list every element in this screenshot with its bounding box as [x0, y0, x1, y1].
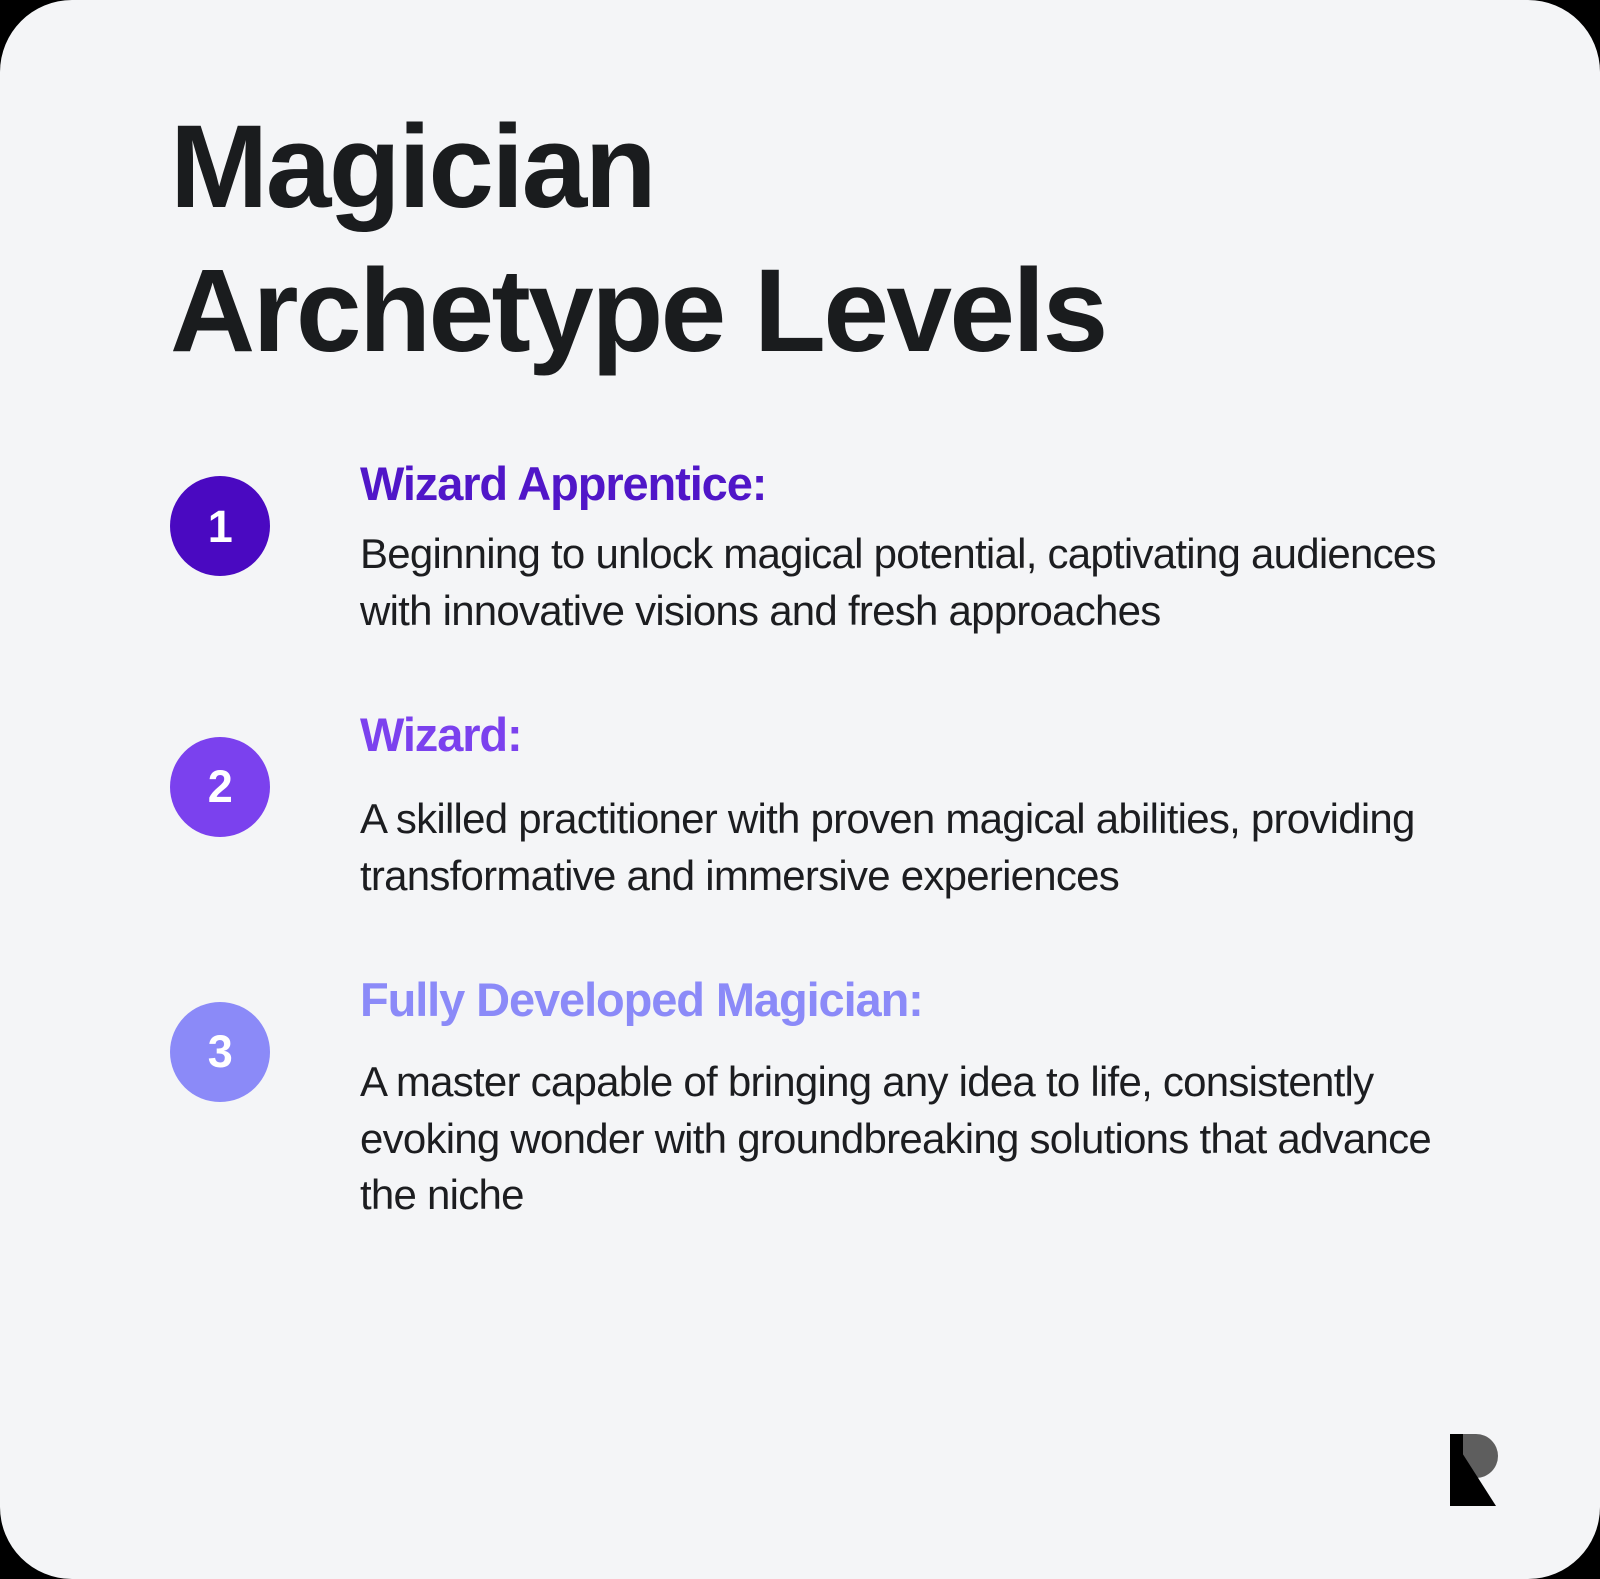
content-card: Magician Archetype Levels 1 Wizard Appre…: [0, 0, 1600, 1579]
level-heading-2: Wizard:: [360, 707, 1450, 763]
page-title: Magician Archetype Levels: [170, 96, 1370, 384]
level-description-3: A master capable of bringing any idea to…: [360, 1054, 1438, 1223]
level-description-1: Beginning to unlock magical potential, c…: [360, 526, 1438, 639]
level-badge-1: 1: [170, 476, 270, 576]
level-badge-2: 2: [170, 737, 270, 837]
level-number: 3: [208, 1029, 233, 1074]
level-number: 2: [208, 764, 233, 809]
levels-list: 1 Wizard Apprentice: Beginning to unlock…: [170, 452, 1450, 1223]
level-number: 1: [208, 504, 233, 549]
level-heading-3: Fully Developed Magician:: [360, 972, 1450, 1028]
list-item: 1 Wizard Apprentice: Beginning to unlock…: [170, 452, 1450, 639]
list-item: 2 Wizard: A skilled practitioner with pr…: [170, 707, 1450, 904]
level-description-2: A skilled practitioner with proven magic…: [360, 791, 1438, 904]
brand-logo-r-icon: [1440, 1430, 1510, 1510]
level-badge-3: 3: [170, 1002, 270, 1102]
list-item: 3 Fully Developed Magician: A master cap…: [170, 972, 1450, 1223]
level-heading-1: Wizard Apprentice:: [360, 452, 1450, 512]
